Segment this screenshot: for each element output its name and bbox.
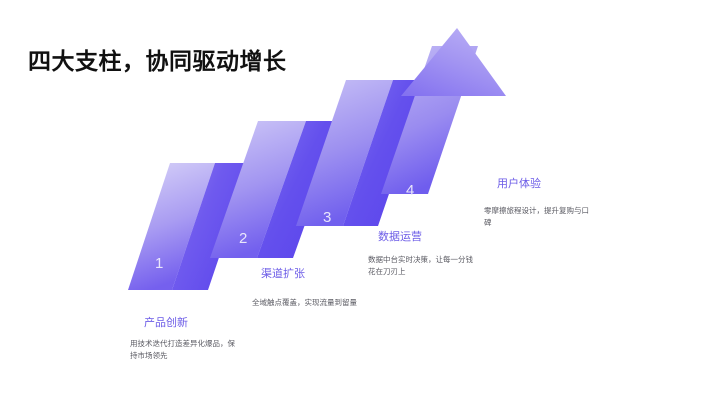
step-label-2: 渠道扩张 (261, 265, 305, 281)
step-desc-4: 零摩擦旅程设计，提升复购与口碑 (484, 205, 596, 230)
step-label-1: 产品创新 (144, 314, 188, 330)
step-desc-3: 数据中台实时决策，让每一分钱花在刀刃上 (368, 254, 480, 279)
arrow-head-icon (401, 28, 506, 96)
slide-canvas: 四大支柱，协同驱动增长 (0, 0, 720, 404)
step-label-4: 用户体验 (497, 175, 541, 191)
step-desc-1: 用技术迭代打造差异化爆品，保持市场领先 (130, 338, 242, 363)
step-desc-2: 全域触点覆盖，实现流量到留量 (252, 297, 364, 309)
step-label-3: 数据运营 (378, 228, 422, 244)
